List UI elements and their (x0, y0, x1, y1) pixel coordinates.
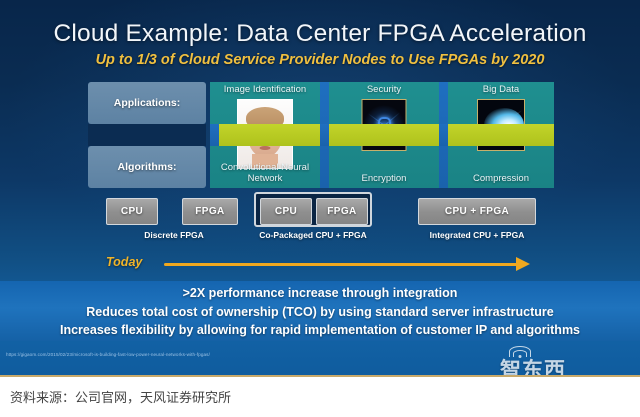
configuration-row: CPU FPGA Discrete FPGA CPU FPGA Co-Packa… (88, 196, 554, 248)
caption-divider (0, 375, 640, 377)
application-label-0: Image Identification (224, 85, 306, 96)
algorithm-label-1: Encryption (329, 174, 439, 185)
timeline-arrow-line (164, 263, 518, 266)
application-label-2: Big Data (483, 85, 519, 96)
source-caption: 资料来源：公司官网，天风证券研究所 (10, 387, 231, 406)
today-label: Today (106, 255, 142, 269)
algorithm-label-0: Convolutional Neural Network (210, 163, 320, 185)
green-highlight-band (210, 124, 554, 146)
group-label-copackaged: Co-Packaged CPU + FPGA (248, 230, 378, 240)
watermark: 智东西 zhidx.com (492, 344, 632, 375)
chip-cpu-fpga-integrated: CPU + FPGA (418, 198, 536, 225)
slide-title: Cloud Example: Data Center FPGA Accelera… (0, 20, 640, 48)
benefit-line-1: Reduces total cost of ownership (TCO) by… (0, 303, 640, 322)
caption-bar: 资料来源：公司官网，天风证券研究所 (0, 375, 640, 417)
row-label-applications: Applications: (88, 82, 206, 124)
source-footnote: https://gigaom.com/2015/02/23/microsoft-… (6, 352, 210, 357)
right-arrow-icon (516, 257, 530, 271)
row-label-column: Applications: Algorithms: (88, 82, 206, 188)
algorithm-label-2: Compression (448, 174, 554, 185)
chip-fpga-discrete: FPGA (182, 198, 238, 225)
label-column-band (88, 124, 206, 146)
chip-fpga-copackaged: FPGA (316, 198, 368, 225)
group-label-discrete: Discrete FPGA (94, 230, 254, 240)
chip-cpu-copackaged: CPU (260, 198, 312, 225)
group-label-integrated: Integrated CPU + FPGA (412, 230, 542, 240)
row-label-algorithms: Algorithms: (88, 146, 206, 188)
timeline-row: Today (88, 254, 554, 274)
benefits-panel: >2X performance increase through integra… (0, 281, 640, 341)
benefit-line-2: Increases flexibility by allowing for ra… (0, 321, 640, 340)
slide-subtitle: Up to 1/3 of Cloud Service Provider Node… (0, 52, 640, 68)
presentation-slide: Cloud Example: Data Center FPGA Accelera… (0, 0, 640, 375)
watermark-brand: 智东西 (500, 354, 566, 375)
benefit-line-0: >2X performance increase through integra… (0, 284, 640, 303)
applications-algorithms-matrix: Applications: Algorithms: Image Identifi… (88, 82, 554, 188)
application-label-1: Security (367, 85, 401, 96)
chip-cpu-discrete: CPU (106, 198, 158, 225)
